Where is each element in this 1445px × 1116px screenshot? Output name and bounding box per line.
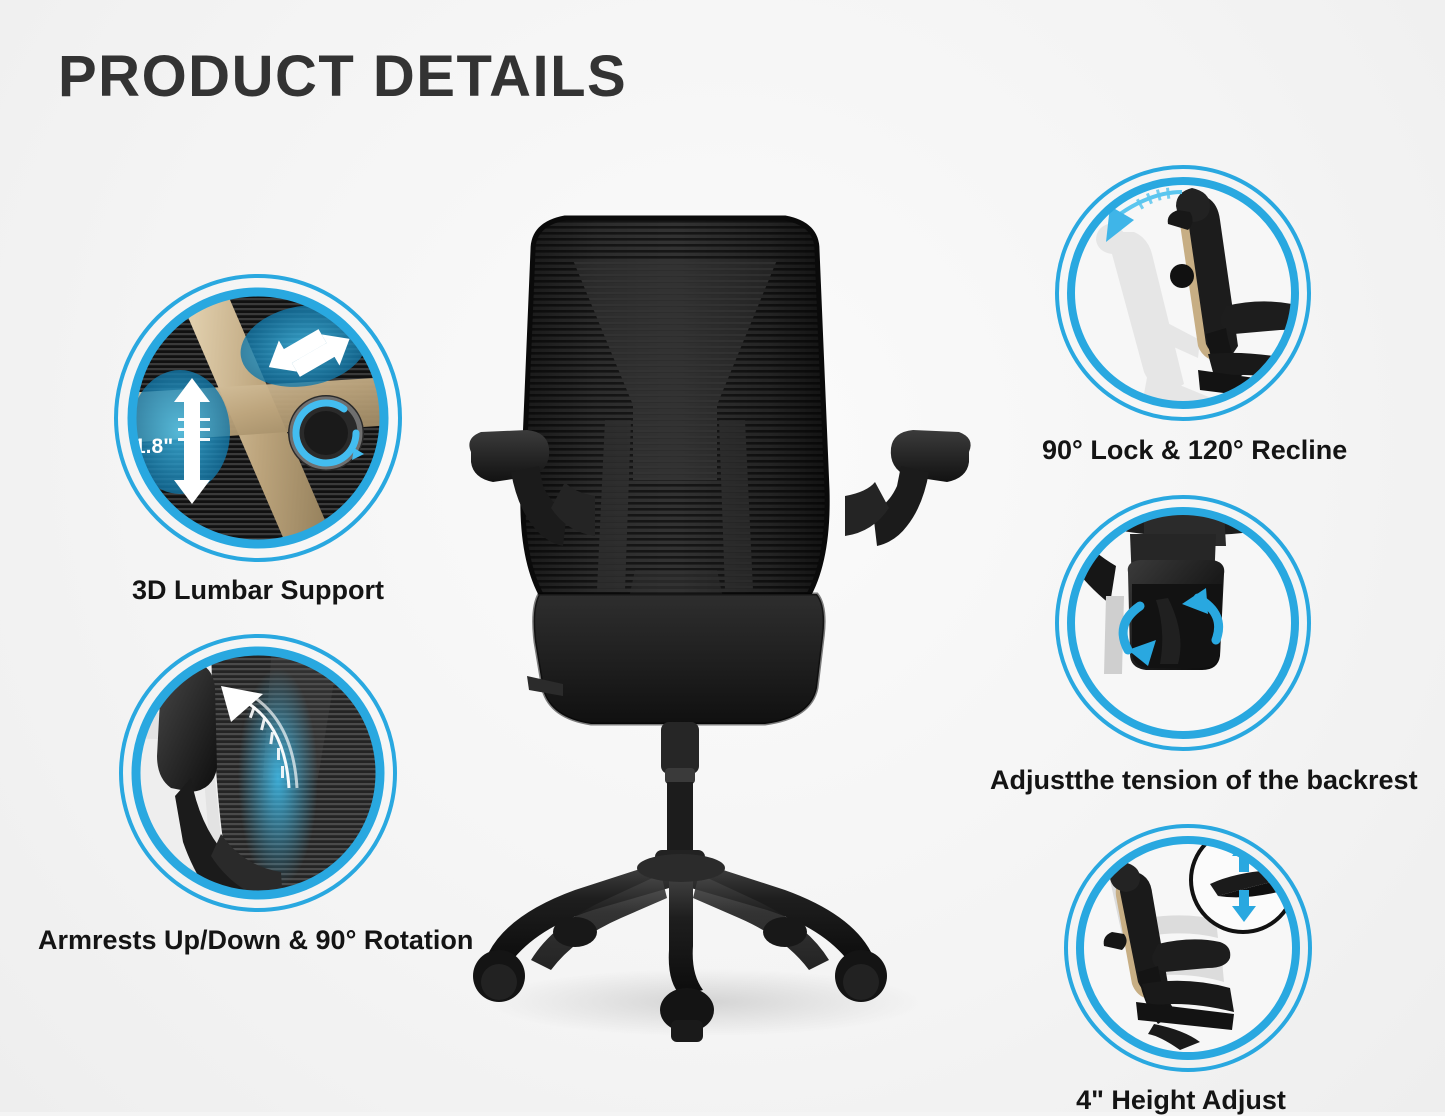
feature-recline: 90° Lock & 120° Recline [1048,158,1322,466]
armrest-rotation-icon [113,628,403,918]
feature-armrest: Armrests Up/Down & 90° Rotation [113,628,403,956]
feature-caption-height: 4" Height Adjust [1051,1086,1311,1116]
product-details-page: PRODUCT DETAILS [0,0,1445,1112]
chair-seat [527,594,824,724]
feature-caption-tension: Adjustthe tension of the backrest [990,766,1270,796]
page-title: PRODUCT DETAILS [58,48,627,106]
feature-height: 4" Height Adjust [1058,818,1318,1116]
chair-armrest-right [845,430,971,546]
feature-lumbar: 1" 1.8" 3D Lumbar Support [108,268,408,606]
feature-tension: Adjustthe tension of the backrest [1048,488,1318,796]
feature-caption-recline: 90° Lock & 120° Recline [1042,436,1322,466]
chair-gas-cylinder [655,722,705,868]
hero-chair-image [455,190,985,1065]
tension-knob-icon [1048,488,1318,758]
chair-backrest [515,210,845,610]
feature-caption-armrest: Armrests Up/Down & 90° Rotation [38,926,334,956]
recline-lock-icon [1048,158,1322,428]
feature-caption-lumbar: 3D Lumbar Support [110,576,406,606]
height-adjust-icon [1058,818,1318,1078]
lumbar-support-icon: 1" 1.8" [108,268,408,568]
